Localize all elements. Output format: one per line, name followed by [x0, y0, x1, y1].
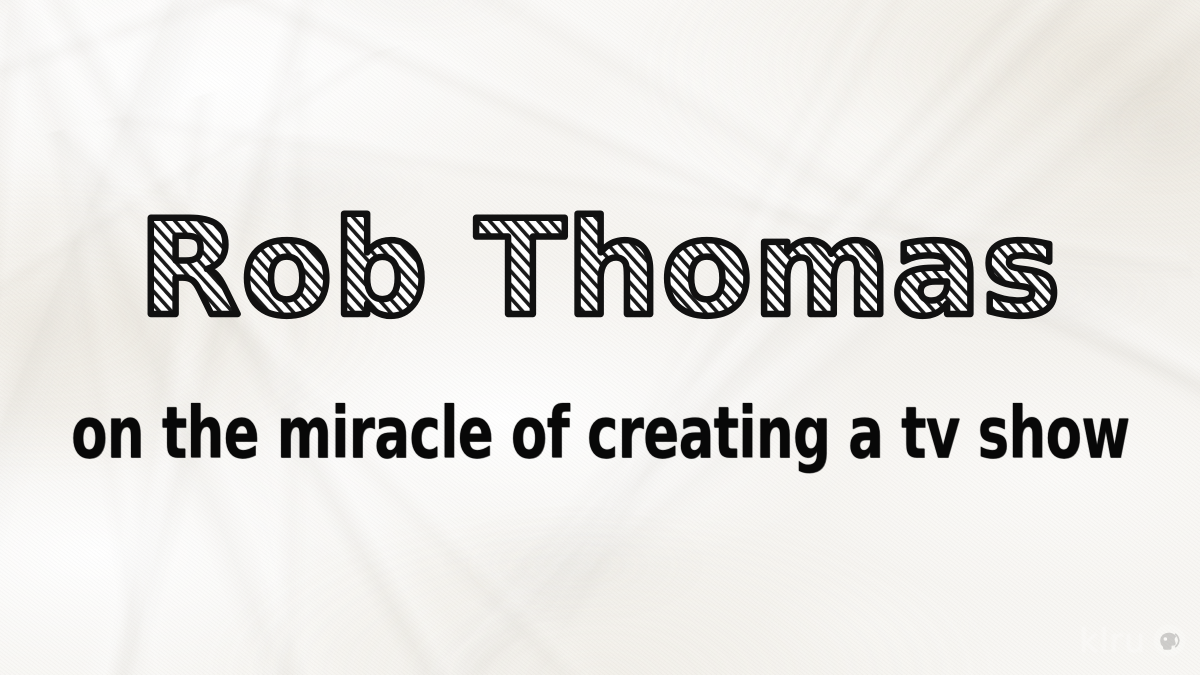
- station-logo-text: klru: [1079, 624, 1146, 657]
- pbs-head-icon: [1153, 624, 1186, 657]
- subtitle-text: on the miracle of creating a tv show: [71, 398, 1129, 470]
- slate-content: Rob Thomas Rob Thomas on the miracle of …: [0, 0, 1200, 675]
- title-artwork: Rob Thomas Rob Thomas: [250, 186, 950, 351]
- subtitle-block: on the miracle of creating a tv show: [0, 398, 1200, 462]
- station-watermark: klru: [1079, 624, 1186, 657]
- title-card: Rob Thomas Rob Thomas on the miracle of …: [0, 0, 1200, 675]
- title-block: Rob Thomas Rob Thomas: [0, 186, 1200, 351]
- title-outline: Rob Thomas: [139, 192, 1062, 346]
